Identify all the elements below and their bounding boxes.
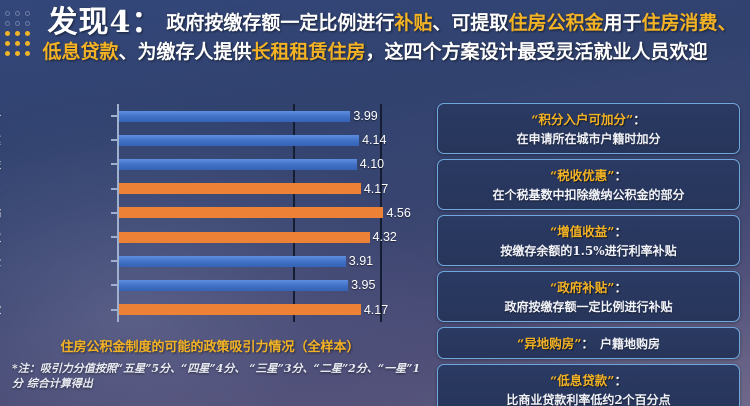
chart-axis-tick bbox=[111, 163, 117, 165]
callout-description: 按缴存余额的1.5%进行利率补贴 bbox=[446, 242, 731, 259]
callout-title: “异地购房”： bbox=[517, 336, 594, 351]
chart-bar-value: 3.99 bbox=[353, 109, 377, 123]
chart-bar-row: 提供长租租赁…4.17 bbox=[6, 177, 418, 201]
headline-run-2: 、可提取 bbox=[432, 12, 508, 34]
chart-category-label: 低息贷款 bbox=[0, 302, 1, 317]
page-title: 发现4：政府按缴存额一定比例进行补贴、可提取住房公积金用于住房消费、 低息贷款、… bbox=[0, 6, 750, 63]
chart-axis-tick bbox=[111, 115, 117, 117]
chart-category-label: 积分入户可加分 bbox=[0, 109, 1, 124]
headline-line-2: 低息贷款、为缴存人提供长租租赁住房，这四个方案设计最受灵活就业人员欢迎 bbox=[0, 41, 750, 63]
callout-card[interactable]: “积分入户可加分”：在申请所在城市户籍时加分 bbox=[437, 103, 740, 154]
callout-description: 户籍地购房 bbox=[600, 337, 660, 351]
chart-bar-value: 4.17 bbox=[364, 303, 388, 317]
headline-run-3: ，这四个方案设计最受灵活就业人员欢迎 bbox=[366, 41, 708, 63]
chart-axis-tick bbox=[111, 212, 117, 214]
callout-card[interactable]: “异地购房”：户籍地购房 bbox=[437, 327, 740, 359]
chart-axis-tick bbox=[111, 284, 117, 286]
chart-bar bbox=[119, 135, 359, 146]
callout-card[interactable]: “税收优惠”：在个税基数中扣除缴纳公积金的部分 bbox=[437, 159, 740, 210]
chart-bar bbox=[119, 159, 357, 170]
chart-bar bbox=[119, 256, 346, 267]
attractiveness-bar-chart: 积分入户可加分3.99税收优惠4.14增值收益4.10提供长租租赁…4.17政府… bbox=[6, 104, 418, 322]
chart-axis-tick bbox=[111, 236, 117, 238]
headline-run-4: 用于 bbox=[603, 12, 641, 34]
callout-card[interactable]: “增值收益”：按缴存余额的1.5%进行利率补贴 bbox=[437, 215, 740, 266]
chart-bar bbox=[119, 183, 361, 194]
headline-run-0: 低息贷款 bbox=[42, 41, 118, 63]
chart-bar-row: 低息贷款4.17 bbox=[6, 298, 418, 322]
headline-run-1: 补贴 bbox=[394, 12, 432, 34]
chart-bar bbox=[119, 232, 370, 243]
chart-category-label: 住房消费可提取 bbox=[0, 230, 1, 245]
callout-title: “低息贷款”： bbox=[446, 370, 731, 389]
chart-bar-value: 3.91 bbox=[349, 254, 373, 268]
callout-description: 在申请所在城市户籍时加分 bbox=[446, 130, 731, 147]
chart-bar-row: 住房消费可提取4.32 bbox=[6, 225, 418, 249]
headline-line-1: 发现4：政府按缴存额一定比例进行补贴、可提取住房公积金用于住房消费、 bbox=[0, 6, 750, 41]
chart-caption: 住房公积金制度的可能的政策吸引力情况（全样本） bbox=[0, 336, 420, 355]
chart-bar-row: 增值收益4.10 bbox=[6, 152, 418, 176]
chart-footnote: *注：吸引力分值按照“五星”5分、“四星”4分、 “三星”3分、“二星”2分、“… bbox=[12, 362, 424, 392]
slide-canvas: 发现4：政府按缴存额一定比例进行补贴、可提取住房公积金用于住房消费、 低息贷款、… bbox=[0, 0, 750, 406]
chart-bar-value: 4.14 bbox=[362, 133, 386, 147]
chart-axis-tick bbox=[111, 188, 117, 190]
chart-axis-tick bbox=[111, 139, 117, 141]
headline-run-5: 住房消费、 bbox=[641, 12, 736, 34]
callout-title: “税收优惠”： bbox=[446, 165, 731, 184]
callout-list: “积分入户可加分”：在申请所在城市户籍时加分“税收优惠”：在个税基数中扣除缴纳公… bbox=[437, 103, 740, 406]
chart-category-label: 税收优惠 bbox=[0, 133, 1, 148]
chart-bar-row: 积分入户可加分3.99 bbox=[6, 104, 418, 128]
callout-title: “增值收益”： bbox=[446, 221, 731, 240]
callout-description: 比商业贷款利率低约2个百分点 bbox=[446, 391, 731, 406]
headline-badge: 发现4： bbox=[48, 5, 163, 40]
callout-title: “积分入户可加分”： bbox=[446, 109, 731, 128]
callout-card[interactable]: “低息贷款”：比商业贷款利率低约2个百分点 bbox=[437, 364, 740, 406]
callout-title: “政府补贴”： bbox=[446, 277, 731, 296]
headline-run-0: 政府按缴存额一定比例进行 bbox=[166, 12, 394, 34]
callout-colon: ： bbox=[614, 168, 627, 183]
headline-line-1-text: 政府按缴存额一定比例进行补贴、可提取住房公积金用于住房消费、 bbox=[166, 12, 736, 34]
chart-bar-value: 4.17 bbox=[364, 182, 388, 196]
callout-card[interactable]: “政府补贴”：政府按缴存额一定比例进行补贴 bbox=[437, 271, 740, 322]
headline-run-2: 长租租赁住房 bbox=[252, 41, 366, 63]
chart-category-label: 支持异地购房… bbox=[0, 278, 1, 293]
callout-colon: ： bbox=[614, 280, 627, 295]
headline-run-3: 住房公积金 bbox=[508, 12, 603, 34]
chart-bar-row: 政府补贴4.56 bbox=[6, 201, 418, 225]
chart-category-label: 政府补贴 bbox=[0, 205, 1, 220]
chart-category-label: 自动扣费 bbox=[0, 254, 1, 269]
headline-line-2-text: 低息贷款、为缴存人提供长租租赁住房，这四个方案设计最受灵活就业人员欢迎 bbox=[42, 41, 707, 63]
chart-bar-value: 3.95 bbox=[351, 278, 375, 292]
callout-description: 在个税基数中扣除缴纳公积金的部分 bbox=[446, 186, 731, 203]
callout-colon: ： bbox=[633, 112, 646, 127]
callout-colon: ： bbox=[614, 224, 627, 239]
chart-bar bbox=[119, 280, 348, 291]
chart-axis-tick bbox=[111, 309, 117, 311]
callout-description: 政府按缴存额一定比例进行补贴 bbox=[446, 298, 731, 315]
chart-category-label: 增值收益 bbox=[0, 157, 1, 172]
chart-bar bbox=[119, 304, 361, 315]
chart-bar bbox=[119, 207, 383, 218]
chart-bar-row: 自动扣费3.91 bbox=[6, 249, 418, 273]
chart-category-label: 提供长租租赁… bbox=[0, 181, 1, 196]
chart-bar-row: 支持异地购房…3.95 bbox=[6, 273, 418, 297]
chart-bar-value: 4.56 bbox=[386, 206, 410, 220]
callout-colon: ： bbox=[581, 336, 594, 351]
chart-bar-row: 税收优惠4.14 bbox=[6, 128, 418, 152]
headline-run-1: 、为缴存人提供 bbox=[118, 41, 251, 63]
chart-axis-tick bbox=[111, 260, 117, 262]
chart-bar-value: 4.32 bbox=[373, 230, 397, 244]
chart-bar bbox=[119, 111, 350, 122]
chart-bar-value: 4.10 bbox=[360, 157, 384, 171]
callout-colon: ： bbox=[614, 373, 627, 388]
